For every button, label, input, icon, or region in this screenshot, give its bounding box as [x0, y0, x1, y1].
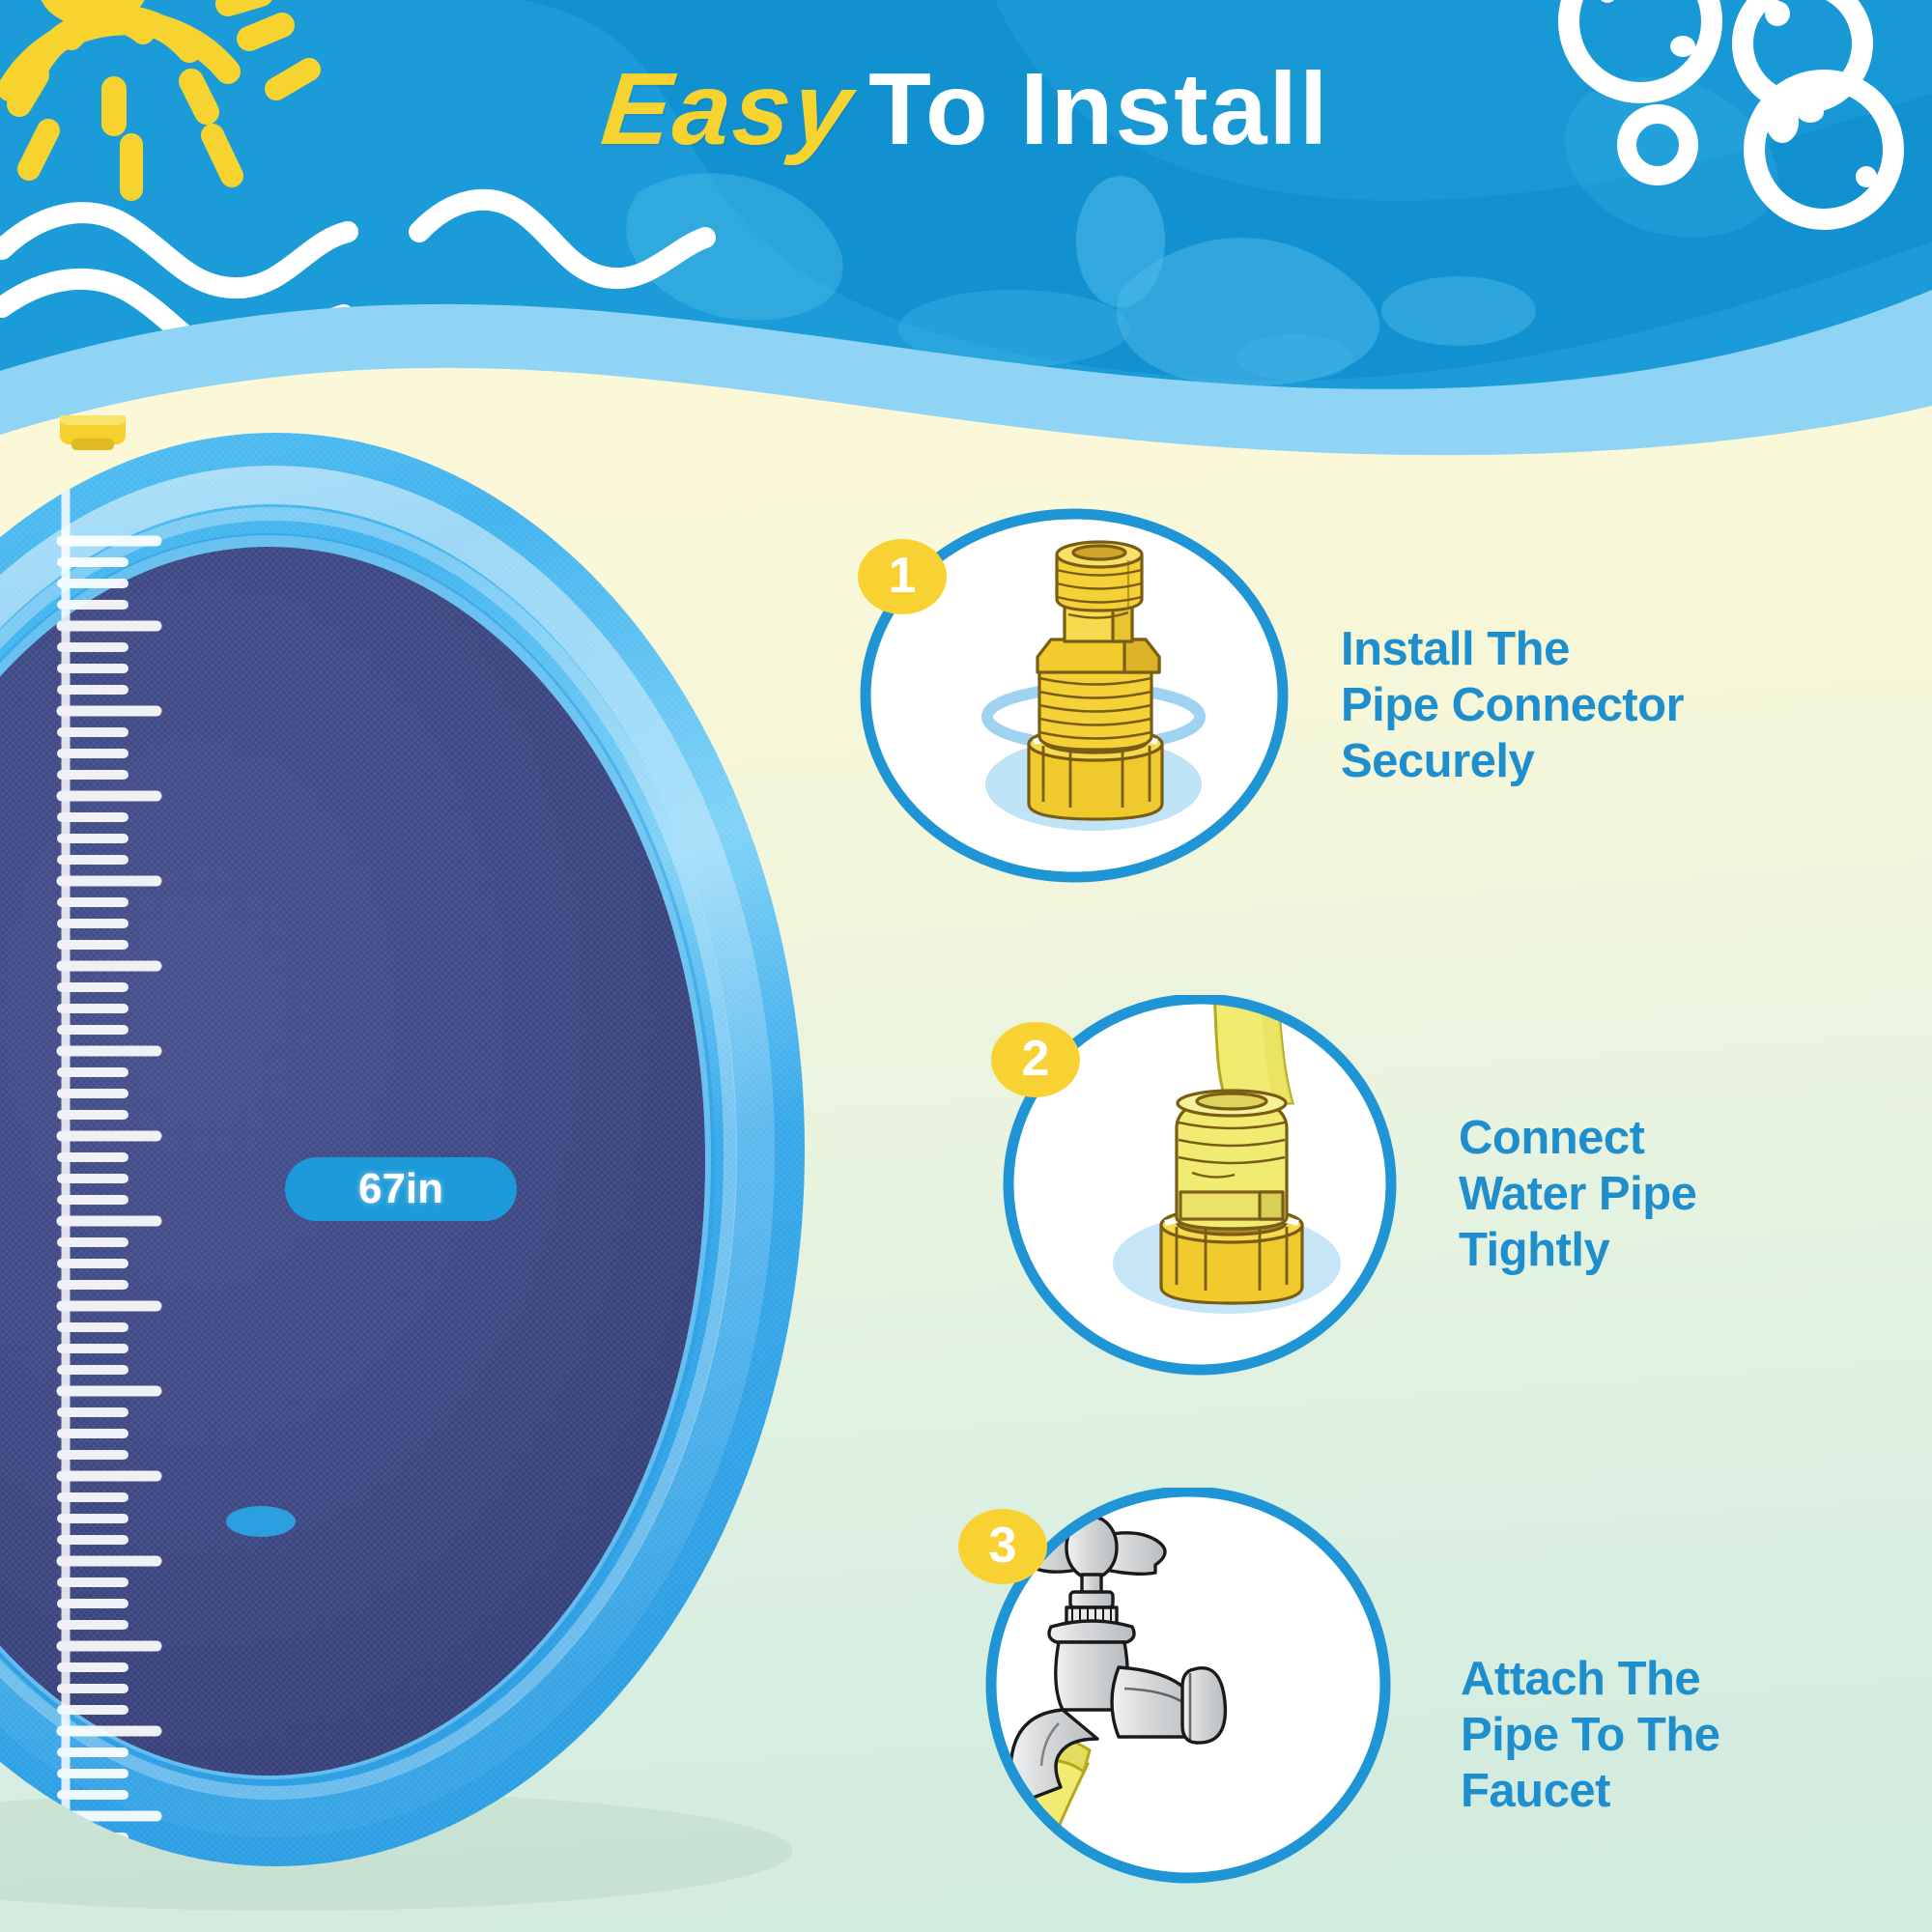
- header-accent-6: [1236, 334, 1352, 381]
- step-2-line-1: Connect: [1459, 1111, 1696, 1167]
- step-2-text: Connect Water Pipe Tightly: [1459, 1111, 1696, 1278]
- size-badge: 67in: [285, 1157, 517, 1221]
- infographic-canvas: EasyTo Install: [0, 0, 1932, 1932]
- step-3-text: Attach The Pipe To The Faucet: [1461, 1652, 1720, 1819]
- water-valve-nub: [60, 415, 126, 450]
- step-1-badge: 1: [858, 539, 947, 614]
- step-2-line-2: Water Pipe: [1459, 1167, 1696, 1223]
- spray-hole: [226, 1506, 296, 1537]
- step-1-text: Install The Pipe Connector Securely: [1341, 622, 1684, 789]
- step-3-line-1: Attach The: [1461, 1652, 1720, 1708]
- step-2-number: 2: [1022, 1034, 1050, 1084]
- step-3-badge: 3: [958, 1509, 1047, 1584]
- step-1-line-1: Install The: [1341, 622, 1684, 678]
- title-accent: Easy: [597, 58, 874, 160]
- size-badge-label: 67in: [358, 1165, 443, 1213]
- step-2-line-3: Tightly: [1459, 1223, 1696, 1279]
- step-1-line-3: Securely: [1341, 734, 1684, 790]
- step-3-line-2: Pipe To The: [1461, 1708, 1720, 1764]
- step-2-badge: 2: [991, 1022, 1080, 1097]
- title-main: To Install: [868, 58, 1329, 160]
- step-3-line-3: Faucet: [1461, 1764, 1720, 1820]
- water-hose-connector-icon: [1161, 1091, 1302, 1303]
- step-1: 1 Install The Pipe Connector Securely: [850, 502, 1874, 889]
- step-3: 3 Attach The Pipe To The Faucet: [966, 1488, 1932, 1903]
- step-1-number: 1: [889, 551, 917, 601]
- step-1-line-2: Pipe Connector: [1341, 678, 1684, 734]
- step-2: 2 Connect Water Pipe Tightly: [985, 995, 1932, 1391]
- page-title: EasyTo Install: [0, 58, 1932, 160]
- step-3-number: 3: [989, 1520, 1017, 1571]
- header-accent-4: [1381, 276, 1536, 346]
